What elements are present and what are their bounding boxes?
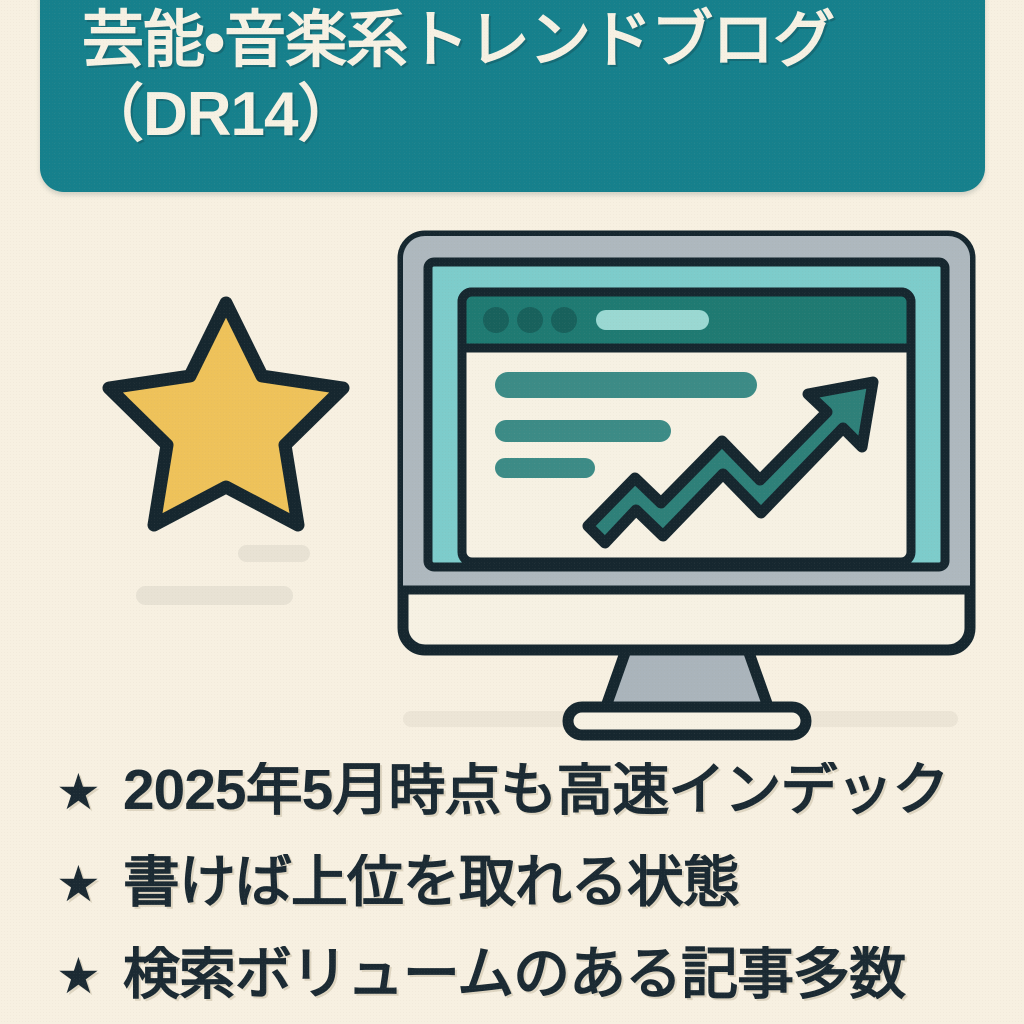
placeholder-bar-long [136, 586, 293, 605]
browser-window [462, 292, 911, 562]
header-banner: 芸能・音楽系トレンドブログ （DR14） [40, 0, 985, 192]
bullet-item-2: ★ 書けば上位を取れる状態 [0, 854, 1024, 946]
browser-dot-3[interactable] [551, 307, 577, 333]
monitor-illustration [403, 236, 970, 735]
rating-star-icon [109, 303, 343, 525]
feature-bullet-list: ★ 2025年5月時点も高速インデック ★ 書けば上位を取れる状態 ★ 検索ボリ… [0, 762, 1024, 1024]
star-bullet-icon: ★ [56, 767, 101, 817]
bullet-item-2-text: 書けば上位を取れる状態 [123, 854, 739, 911]
bullet-item-1-text: 2025年5月時点も高速インデック [123, 762, 949, 819]
placeholder-bar-short [238, 545, 310, 562]
bullet-item-3: ★ 検索ボリュームのある記事多数 [0, 946, 1024, 1024]
content-line-1 [495, 372, 757, 398]
promo-card: 芸能・音楽系トレンドブログ （DR14） [0, 0, 1024, 1024]
banner-title: 芸能・音楽系トレンドブログ （DR14） [82, 4, 962, 152]
bullet-item-1: ★ 2025年5月時点も高速インデック [0, 762, 1024, 854]
browser-dot-1[interactable] [483, 307, 509, 333]
star-bullet-icon: ★ [56, 859, 101, 909]
content-line-2 [495, 420, 671, 442]
monitor-stand-base [568, 707, 806, 735]
browser-url-bar[interactable] [596, 310, 709, 330]
bullet-item-3-text: 検索ボリュームのある記事多数 [123, 946, 905, 1003]
star-bullet-icon: ★ [56, 951, 101, 1001]
browser-dot-2[interactable] [517, 307, 543, 333]
content-line-3 [495, 458, 595, 478]
